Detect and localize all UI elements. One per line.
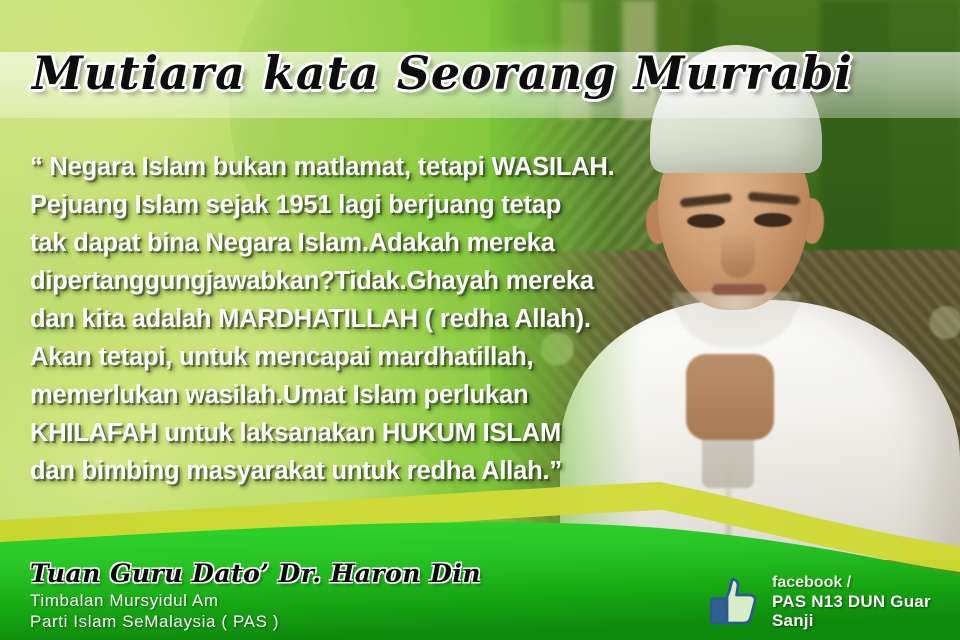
quote-line: memerlukan wasilah.Umat Islam perlukan xyxy=(30,376,630,414)
facebook-page-name: PAS N13 DUN Guar Sanji xyxy=(772,592,960,630)
quote-line: Pejuang Islam sejak 1951 lagi berjuang t… xyxy=(30,186,630,224)
quote-line: dipertanggungjawabkan?Tidak.Ghayah merek… xyxy=(30,262,630,300)
mouth xyxy=(712,284,766,295)
neck xyxy=(686,354,774,440)
quote-line: tak dapat bina Negara Islam.Adakah merek… xyxy=(30,224,630,262)
poster-canvas: Mutiara kata Seorang Murrabi “ Negara Is… xyxy=(0,0,960,640)
thumbs-up-icon[interactable] xyxy=(706,574,762,630)
eye-right xyxy=(754,213,792,227)
quote-block: “ Negara Islam bukan matlamat, tetapi WA… xyxy=(30,148,630,490)
nose xyxy=(721,232,755,278)
quote-line: dan kita adalah MARDHATILLAH ( redha All… xyxy=(30,300,630,338)
credit-block: Tuan Guru Dato’ Dr. Haron Din Timbalan M… xyxy=(30,559,481,632)
quote-line: Akan tetapi, untuk mencapai mardhatillah… xyxy=(30,338,630,376)
quote-line: “ Negara Islam bukan matlamat, tetapi WA… xyxy=(30,148,630,186)
speaker-party: Parti Islam SeMalaysia ( PAS ) xyxy=(30,611,481,632)
page-title: Mutiara kata Seorang Murrabi xyxy=(32,46,853,100)
facebook-badge[interactable]: facebook / PAS N13 DUN Guar Sanji xyxy=(706,573,960,630)
speaker-name: Tuan Guru Dato’ Dr. Haron Din xyxy=(30,559,481,588)
facebook-label: facebook / xyxy=(772,573,960,592)
facebook-text: facebook / PAS N13 DUN Guar Sanji xyxy=(772,573,960,630)
eye-left xyxy=(687,214,725,228)
speaker-role: Timbalan Mursyidul Am xyxy=(30,590,481,611)
quote-line: KHILAFAH untuk laksanakan HUKUM ISLAM xyxy=(30,414,630,452)
